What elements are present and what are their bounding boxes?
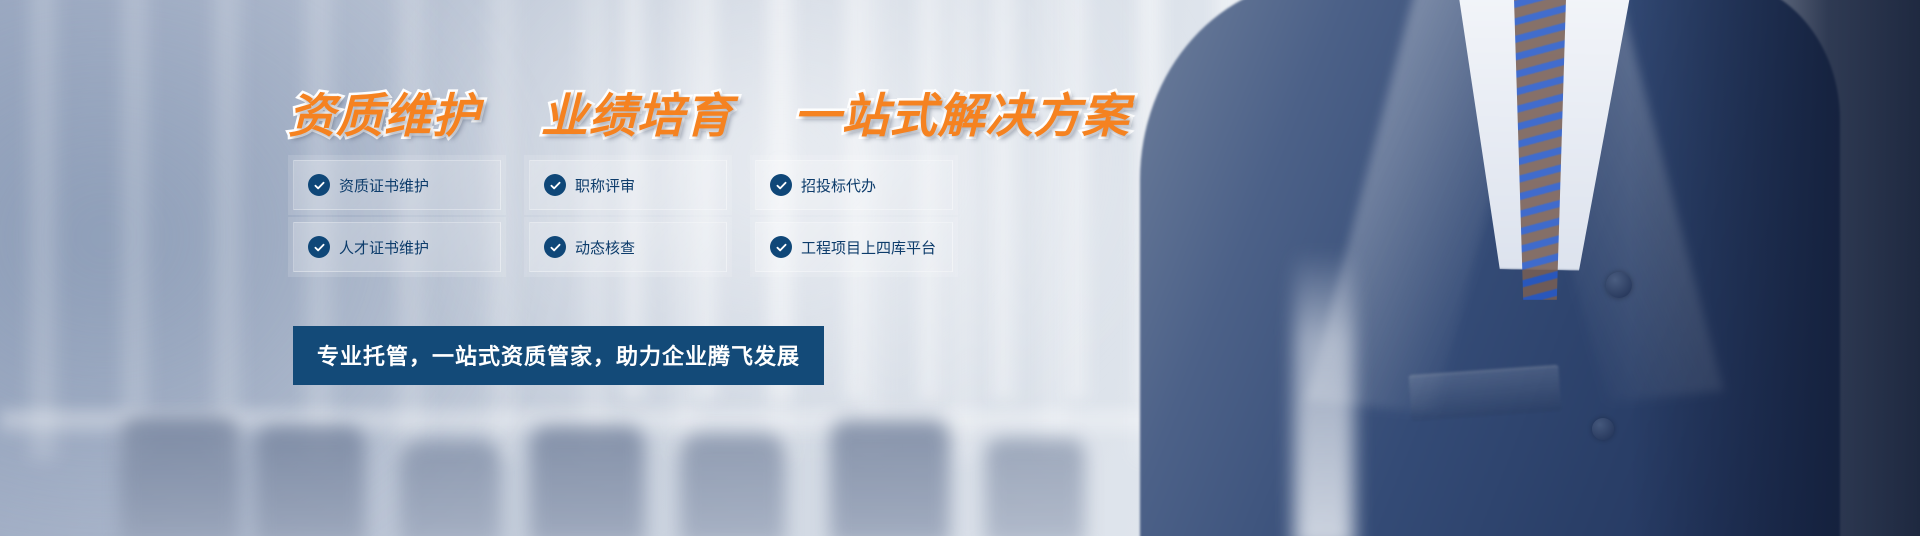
check-circle-icon <box>770 236 792 258</box>
check-circle-icon <box>308 236 330 258</box>
feature-label: 职称评审 <box>575 175 635 196</box>
feature-item-bidding-agency[interactable]: 招投标代办 <box>755 160 953 210</box>
suit-shadow <box>1630 0 1920 536</box>
feature-item-four-database-platform[interactable]: 工程项目上四库平台 <box>755 222 953 272</box>
headline-part-3: 一站式解决方案 <box>794 77 1130 146</box>
headline-part-1: 资质维护 <box>288 77 480 146</box>
feature-item-qualification-certificate-maintenance[interactable]: 资质证书维护 <box>293 160 501 210</box>
feature-item-title-review[interactable]: 职称评审 <box>529 160 727 210</box>
suit-button <box>1606 272 1632 298</box>
feature-label: 动态核查 <box>575 237 635 258</box>
feature-item-dynamic-verification[interactable]: 动态核查 <box>529 222 727 272</box>
feature-label: 招投标代办 <box>801 175 876 196</box>
feature-row-2: 人才证书维护 动态核查 工程项目上四库平台 <box>293 222 965 272</box>
banner-headline: 资质维护 业绩培育 一站式解决方案 <box>288 77 1130 146</box>
feature-row-1: 资质证书维护 职称评审 招投标代办 <box>293 160 965 210</box>
headline-part-2: 业绩培育 <box>541 77 733 146</box>
banner-content: 资质维护 业绩培育 一站式解决方案 资质证书维护 职称评审 <box>0 0 1100 536</box>
check-circle-icon <box>544 174 566 196</box>
suit-button <box>1592 418 1614 440</box>
feature-label: 工程项目上四库平台 <box>801 237 936 258</box>
businessman-photo <box>1080 0 1920 536</box>
feature-label: 资质证书维护 <box>339 175 429 196</box>
feature-label: 人才证书维护 <box>339 237 429 258</box>
tagline-ribbon: 专业托管，一站式资质管家，助力企业腾飞发展 <box>293 326 824 385</box>
tagline-text: 专业托管，一站式资质管家，助力企业腾飞发展 <box>317 345 800 370</box>
feature-list: 资质证书维护 职称评审 招投标代办 <box>293 160 965 284</box>
check-circle-icon <box>770 174 792 196</box>
hero-banner: 资质维护 业绩培育 一站式解决方案 资质证书维护 职称评审 <box>0 0 1920 536</box>
check-circle-icon <box>544 236 566 258</box>
check-circle-icon <box>308 174 330 196</box>
arm-highlight <box>1294 250 1354 536</box>
feature-item-talent-certificate-maintenance[interactable]: 人才证书维护 <box>293 222 501 272</box>
